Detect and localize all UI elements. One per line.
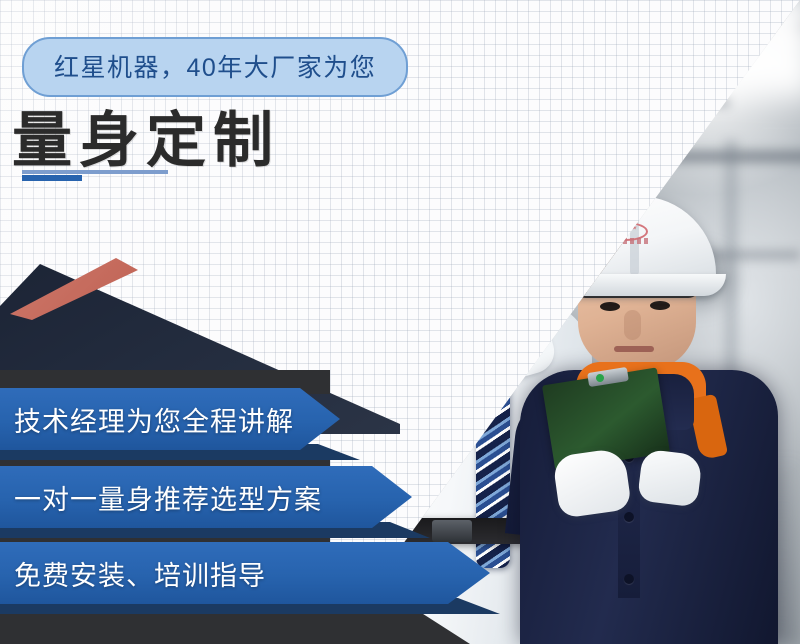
mouth bbox=[614, 346, 654, 352]
feature-banner-3[interactable]: 免费安装、培训指导 bbox=[0, 542, 500, 604]
work-glove bbox=[552, 447, 632, 518]
title-underline-dark bbox=[22, 175, 82, 181]
eye bbox=[600, 302, 620, 311]
title-underline-light bbox=[22, 170, 168, 174]
feature-banner-1[interactable]: 技术经理为您全程讲解 bbox=[0, 388, 370, 450]
eye bbox=[650, 301, 670, 310]
nose bbox=[624, 310, 641, 340]
tagline-pill: 红星机器，40年大厂家为您 bbox=[22, 37, 408, 97]
feature-banner-2[interactable]: 一对一量身推荐选型方案 bbox=[0, 466, 420, 528]
bottom-dark-strip bbox=[0, 612, 470, 644]
feature-banner-2-label: 一对一量身推荐选型方案 bbox=[0, 478, 322, 517]
button bbox=[624, 574, 634, 584]
page-title: 量身定制 bbox=[12, 92, 280, 179]
feature-banner-3-label: 免费安装、培训指导 bbox=[0, 554, 266, 593]
feature-banner-1-label: 技术经理为您全程讲解 bbox=[0, 400, 294, 439]
button bbox=[624, 512, 634, 522]
promo-banner: 技术经理为您全程讲解 一对一量身推荐选型方案 免费安装、培训指导 红星机器，40… bbox=[0, 0, 800, 644]
